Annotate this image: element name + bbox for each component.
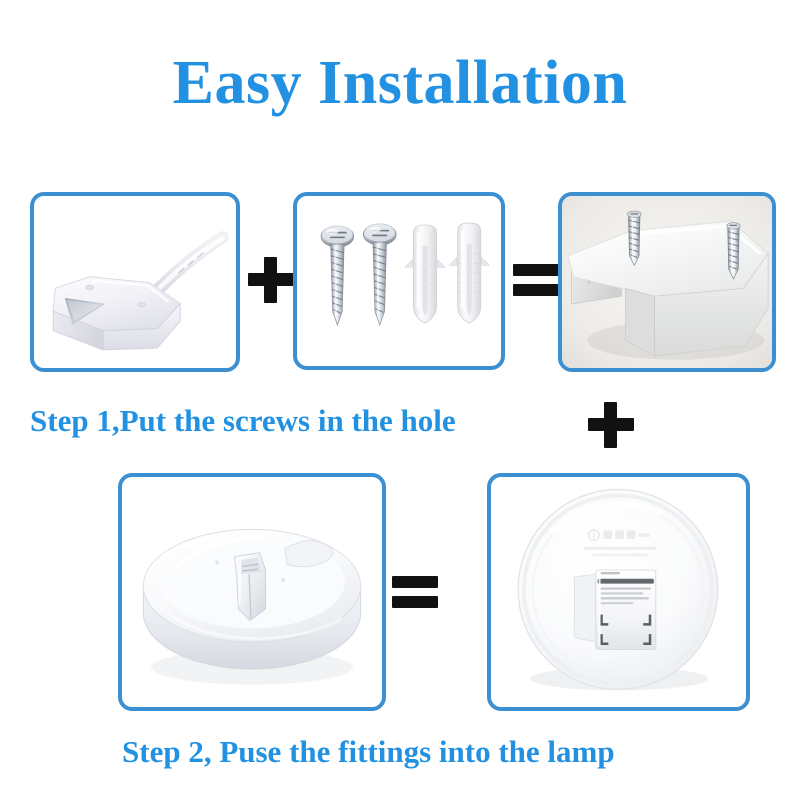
bracket-screw-hole-left	[86, 285, 94, 289]
wall-plug-1	[405, 225, 445, 323]
wall-bracket-illustration	[34, 196, 236, 368]
operator-equals-row1	[513, 262, 559, 298]
panel-lamp-side-view-inner	[122, 477, 382, 707]
panel-screws-and-plugs	[293, 192, 505, 370]
panel-screws-and-plugs-inner	[297, 196, 501, 366]
panel-lamp-bottom-view-inner	[491, 477, 746, 707]
hardware-illustration	[297, 196, 501, 366]
lamp-terminal-block	[574, 570, 655, 650]
equals-bar-top-row2	[392, 576, 438, 588]
equals-bar-bottom-row2	[392, 596, 438, 608]
terminal-side-tab	[574, 574, 597, 642]
lamp-vent-dot-2	[281, 578, 285, 582]
screw-1	[321, 225, 354, 325]
panel-wall-bracket	[30, 192, 240, 372]
step-2-caption: Step 2, Puse the fittings into the lamp	[122, 733, 615, 771]
lamp-vent-dot-1	[215, 560, 219, 564]
panel-bracket-mounted	[558, 192, 776, 372]
lamp-mounting-clip	[235, 553, 266, 621]
panel-bracket-mounted-inner	[562, 196, 772, 368]
panel-lamp-side-view	[118, 473, 386, 711]
screw-2	[363, 223, 396, 325]
equals-bar-bottom	[513, 284, 559, 296]
operator-plus-between-rows	[588, 402, 634, 448]
step-1-caption: Step 1,Put the screws in the hole	[30, 402, 456, 440]
lamp-side-illustration	[122, 477, 382, 707]
panel-lamp-bottom-view	[487, 473, 750, 711]
equals-bar-top	[513, 264, 559, 276]
bracket-screw-hole-right	[138, 303, 146, 307]
operator-plus-row1	[248, 257, 294, 303]
page-title: Easy Installation	[0, 48, 800, 118]
panel-wall-bracket-inner	[34, 196, 236, 368]
operator-equals-row2	[392, 574, 438, 610]
wall-plug-2	[449, 223, 489, 323]
lamp-bottom-illustration	[491, 477, 746, 707]
bracket-mounted-illustration	[562, 196, 772, 368]
terminal-top-strip	[598, 579, 654, 584]
